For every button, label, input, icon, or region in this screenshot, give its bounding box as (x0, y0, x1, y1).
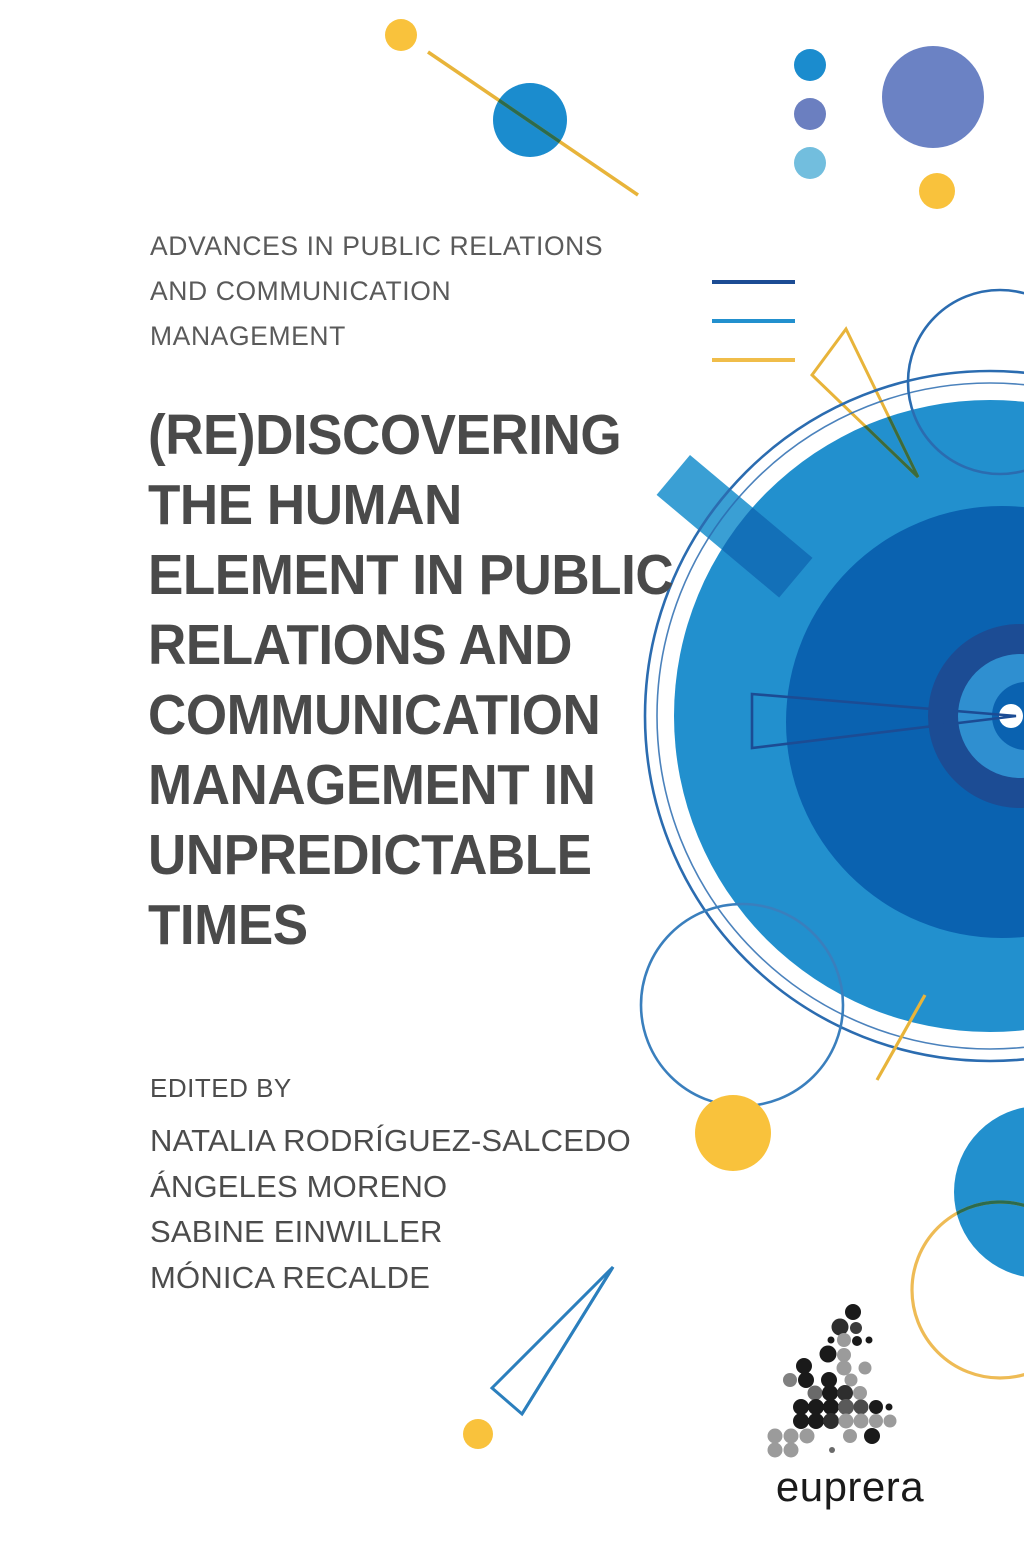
book-title: (RE)DISCOVERING THE HUMAN ELEMENT IN PUB… (148, 400, 650, 960)
title-line: TIMES (148, 890, 650, 960)
title-line: UNPREDICTABLE (148, 820, 650, 890)
series-line: MANAGEMENT (150, 314, 670, 359)
editor-name: SABINE EINWILLER (150, 1209, 680, 1255)
euprera-dot-map (768, 1304, 897, 1458)
title-line: COMMUNICATION (148, 680, 650, 750)
series-line: ADVANCES IN PUBLIC RELATIONS (150, 224, 670, 269)
series-line: AND COMMUNICATION (150, 269, 670, 314)
title-line: THE HUMAN (148, 470, 650, 540)
editor-list: NATALIA RODRÍGUEZ-SALCEDO ÁNGELES MORENO… (150, 1118, 680, 1300)
editor-name: ÁNGELES MORENO (150, 1164, 680, 1210)
book-cover: ADVANCES IN PUBLIC RELATIONS AND COMMUNI… (0, 0, 1024, 1544)
editor-name: NATALIA RODRÍGUEZ-SALCEDO (150, 1118, 680, 1164)
series-title: ADVANCES IN PUBLIC RELATIONS AND COMMUNI… (150, 224, 670, 359)
title-line: RELATIONS AND (148, 610, 650, 680)
publisher-wordmark: euprera (752, 1463, 948, 1511)
editor-name: MÓNICA RECALDE (150, 1255, 680, 1301)
title-line: MANAGEMENT IN (148, 750, 650, 820)
title-line: (RE)DISCOVERING (148, 400, 650, 470)
edited-by-label: EDITED BY (150, 1073, 292, 1104)
title-line: ELEMENT IN PUBLIC (148, 540, 650, 610)
